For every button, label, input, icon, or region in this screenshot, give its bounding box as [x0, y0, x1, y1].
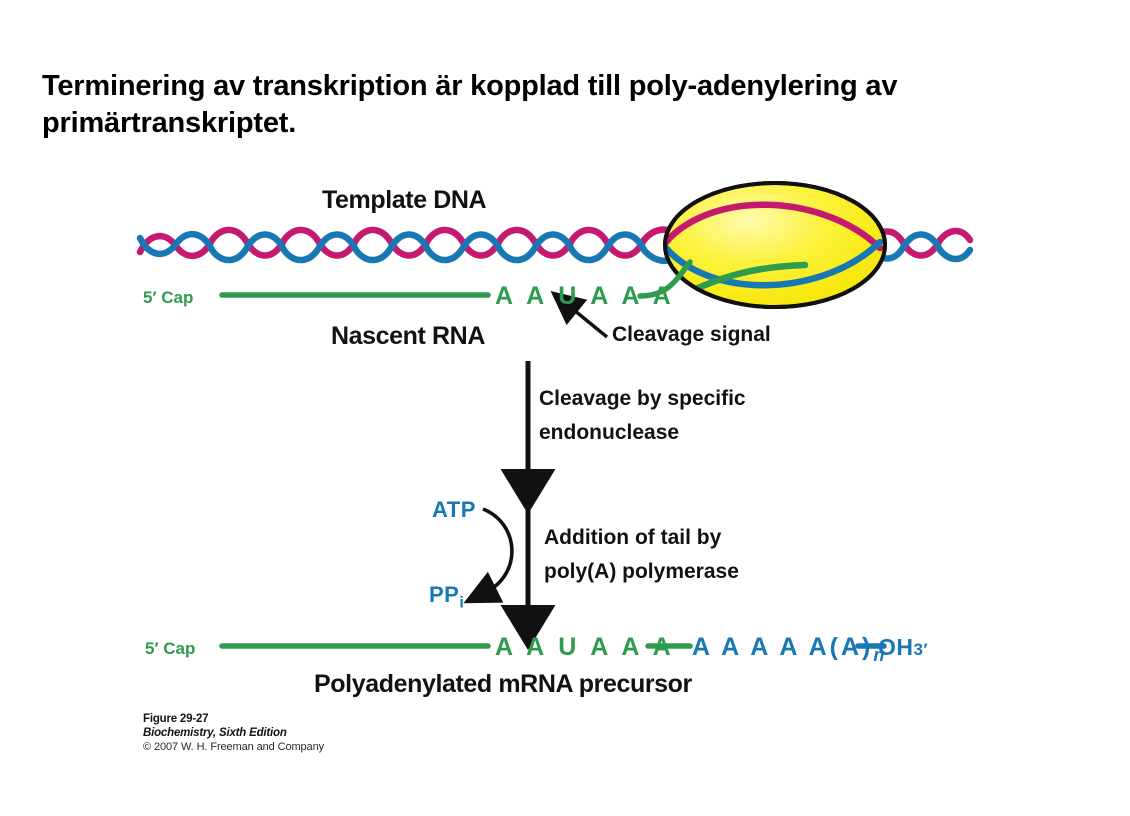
five-prime-cap-top-label: 5′ Cap: [143, 285, 193, 309]
three-prime-text: 3′: [914, 640, 929, 659]
poly-a-tail-bases: A A A A A(A): [692, 633, 873, 661]
atp-to-ppi-curved-arrow: [483, 509, 512, 592]
cleavage-signal-sequence-top: A A U A A A: [495, 282, 675, 311]
cleavage-signal-label: Cleavage signal: [612, 323, 771, 347]
oh-text: OH: [878, 634, 914, 660]
ppi-subscript: i: [459, 594, 464, 611]
five-prime-cap-bottom-label: 5′ Cap: [145, 636, 195, 660]
polyadenylation-step-label: Addition of tail by poly(A) polymerase: [544, 521, 739, 589]
nascent-rna-label: Nascent RNA: [331, 322, 485, 351]
ppi-text: PP: [429, 582, 459, 607]
slide-canvas: Terminering av transkription är kopplad …: [0, 0, 1130, 816]
cleavage-signal-sequence-bottom: A A U A A A: [495, 633, 675, 662]
dna-double-helix: [140, 230, 678, 261]
five-prime-cap-top-text: 5′ Cap: [143, 288, 193, 307]
rna-polymerase-bubble: [645, 183, 885, 307]
poly-a-tail-sequence: A A A A A(A)n: [692, 633, 884, 666]
cleavage-step-label: Cleavage by specific endonuclease: [539, 382, 746, 450]
figure-caption: Figure 29-27 Biochemistry, Sixth Edition…: [143, 712, 324, 755]
figure-source: Biochemistry, Sixth Edition: [143, 726, 324, 740]
three-prime-oh-label: OH3′: [878, 634, 928, 661]
template-dna-label: Template DNA: [322, 186, 486, 215]
figure-copyright: © 2007 W. H. Freeman and Company: [143, 740, 324, 755]
figure-number: Figure 29-27: [143, 712, 324, 726]
five-prime-cap-bottom-text: 5′ Cap: [145, 639, 195, 658]
polyadenylated-mrna-label: Polyadenylated mRNA precursor: [314, 670, 692, 699]
atp-label: ATP: [432, 497, 476, 523]
ppi-label: PPi: [429, 582, 464, 612]
